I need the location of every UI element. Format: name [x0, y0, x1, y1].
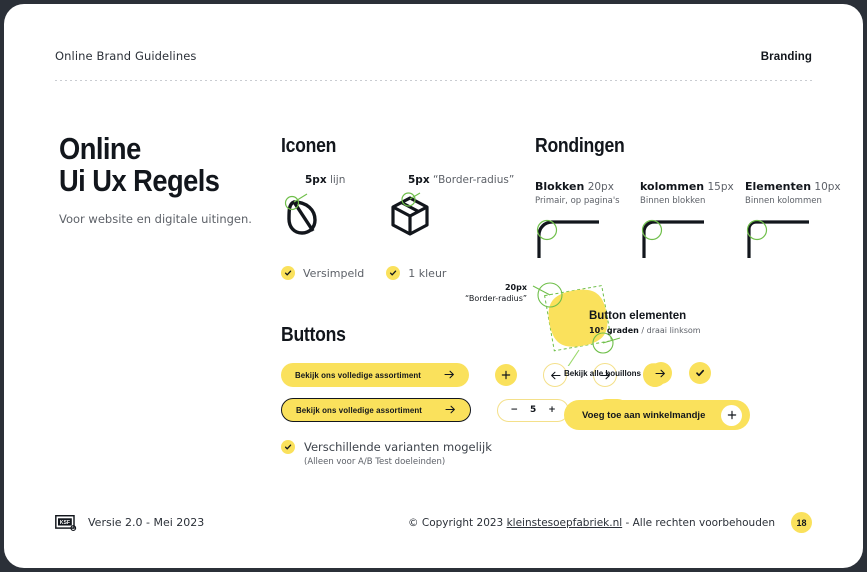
- stepper-increment-button[interactable]: +: [548, 405, 556, 415]
- icon-spec-label-leaf: 5px lijn: [305, 174, 345, 186]
- rondingen-name: Elementen: [745, 180, 811, 193]
- slide-card: Online Brand Guidelines Branding Online …: [4, 4, 863, 568]
- section-title-buttons: Buttons: [281, 324, 527, 347]
- section-title-iconen: Iconen: [281, 135, 483, 158]
- buttons-note-main: Verschillende varianten mogelijk: [304, 440, 492, 454]
- buttons-note: Verschillende varianten mogelijk (Alleen…: [281, 440, 561, 467]
- quantity-stepper[interactable]: − 5 +: [497, 399, 568, 422]
- stepper-decrement-button[interactable]: −: [510, 405, 518, 415]
- rondingen-column-blokken: Blokken 20px Primair, op pagina's: [535, 180, 615, 264]
- checklist-label: 1 kleur: [408, 267, 446, 280]
- secondary-cta-label: Bekijk ons volledige assortiment: [296, 405, 422, 415]
- button-row-primary: Bekijk ons volledige assortiment: [281, 363, 561, 387]
- svg-text:KSF: KSF: [60, 520, 70, 526]
- rondingen-sub: Primair, op pagina's: [535, 196, 615, 206]
- button-elementen-title: Button elementen: [589, 310, 701, 322]
- icon-examples: 5px lijn 5px “Border-radius”: [281, 178, 511, 258]
- rondingen-heading: Blokken 20px: [535, 180, 615, 193]
- button-elementen-rotation: 10° graden / draai linksom: [589, 326, 701, 335]
- arrow-right-circle-button[interactable]: [650, 362, 672, 384]
- right-button-group: Bekijk alle bouillons Voeg toe aan winke…: [564, 362, 750, 430]
- icon-spec-value-box: 5px: [408, 174, 430, 186]
- corner-radius-demo-elementen: [745, 218, 825, 264]
- link-button-label[interactable]: Bekijk alle bouillons: [564, 369, 641, 378]
- plus-circle-button[interactable]: [495, 364, 517, 386]
- section-buttons: Buttons Bekijk ons volledige assortiment: [281, 324, 561, 467]
- icon-spec-text-leaf: lijn: [330, 174, 345, 186]
- rondingen-name: Blokken: [535, 180, 584, 193]
- leaf-icon: [283, 192, 323, 244]
- primary-cta-button[interactable]: Bekijk ons volledige assortiment: [281, 363, 469, 387]
- rondingen-heading: Elementen 10px: [745, 180, 825, 193]
- rondingen-name: kolommen: [640, 180, 704, 193]
- rondingen-value: 20px: [588, 181, 614, 193]
- confirm-check-button[interactable]: [689, 362, 711, 384]
- icon-spec-text-box: “Border-radius”: [433, 174, 514, 186]
- button-elementen-caption: Button elementen 10° graden / draai link…: [589, 310, 701, 335]
- rondingen-value: 10px: [814, 181, 840, 193]
- hero-block: Online Ui Ux Regels Voor website en digi…: [59, 133, 274, 227]
- button-samples: Bekijk ons volledige assortiment: [281, 363, 561, 422]
- corner-radius-demo-kolommen: [640, 218, 720, 264]
- footer-left: KSF Versie 2.0 - Mei 2023: [55, 515, 204, 531]
- footer-right: © Copyright 2023 kleinstesoepfabriek.nl …: [408, 512, 812, 533]
- box-icon: [386, 192, 434, 244]
- add-to-cart-label: Voeg toe aan winkelmandje: [582, 410, 705, 421]
- header-divider: [55, 80, 812, 81]
- checklist-label: Versimpeld: [303, 267, 364, 280]
- check-icon: [386, 266, 400, 280]
- primary-cta-label: Bekijk ons volledige assortiment: [295, 370, 421, 380]
- section-title-rondingen: Rondingen: [535, 135, 790, 158]
- add-to-cart-button[interactable]: Voeg toe aan winkelmandje: [564, 400, 750, 430]
- copyright-text: © Copyright 2023 kleinstesoepfabriek.nl …: [408, 517, 775, 529]
- copyright-suffix: - Alle rechten voorbehouden: [622, 517, 775, 529]
- rondingen-column-kolommen: kolommen 15px Binnen blokken: [640, 180, 720, 264]
- brand-logo-icon: KSF: [55, 515, 77, 531]
- rotation-value: 10° graden: [589, 326, 639, 335]
- slide-footer: KSF Versie 2.0 - Mei 2023 © Copyright 20…: [55, 512, 812, 533]
- rondingen-columns: Blokken 20px Primair, op pagina's kolomm…: [535, 180, 825, 264]
- corner-radius-demo-blokken: [535, 218, 615, 264]
- section-iconen: Iconen 5px lijn 5px: [281, 135, 511, 280]
- page-number-badge: 18: [791, 512, 812, 533]
- rotation-label: / draai linksom: [641, 326, 700, 335]
- copyright-link[interactable]: kleinstesoepfabriek.nl: [507, 517, 623, 529]
- icon-spec-label-box: 5px “Border-radius”: [408, 174, 514, 186]
- page-subtitle: Voor website en digitale uitingen.: [59, 211, 274, 227]
- rondingen-value: 15px: [707, 181, 733, 193]
- rondingen-sub: Binnen blokken: [640, 196, 720, 206]
- check-icon: [281, 440, 295, 454]
- arrow-right-icon: [445, 405, 456, 416]
- checklist-item-kleur: 1 kleur: [386, 266, 446, 280]
- checklist-item-versimpeld: Versimpeld: [281, 266, 364, 280]
- button-row-outlined: Bekijk ons volledige assortiment − 5 + 3…: [281, 398, 561, 422]
- icon-spec-value-leaf: 5px: [305, 174, 327, 186]
- rondingen-column-elementen: Elementen 10px Binnen kolommen: [745, 180, 825, 264]
- rondingen-heading: kolommen 15px: [640, 180, 720, 193]
- check-icon: [281, 266, 295, 280]
- page-title: Online Ui Ux Regels: [59, 133, 248, 197]
- arrow-right-icon: [444, 370, 455, 381]
- section-rondingen: Rondingen Blokken 20px Primair, op pagin…: [535, 135, 825, 264]
- plus-icon: [721, 405, 742, 426]
- slide-header: Online Brand Guidelines Branding: [55, 49, 812, 81]
- border-radius-callout: 20px “Border-radius”: [459, 282, 527, 304]
- header-title: Online Brand Guidelines: [55, 49, 196, 63]
- copyright-prefix: © Copyright 2023: [408, 517, 507, 529]
- version-label: Versie 2.0 - Mei 2023: [88, 516, 204, 529]
- rondingen-sub: Binnen kolommen: [745, 196, 825, 206]
- header-category: Branding: [761, 51, 812, 63]
- border-radius-label: “Border-radius”: [465, 294, 527, 303]
- buttons-note-sub: (Alleen voor A/B Test doeleinden): [304, 457, 492, 467]
- secondary-cta-button[interactable]: Bekijk ons volledige assortiment: [281, 398, 471, 422]
- stepper-value: 5: [530, 405, 536, 415]
- link-button-row: Bekijk alle bouillons: [564, 362, 750, 384]
